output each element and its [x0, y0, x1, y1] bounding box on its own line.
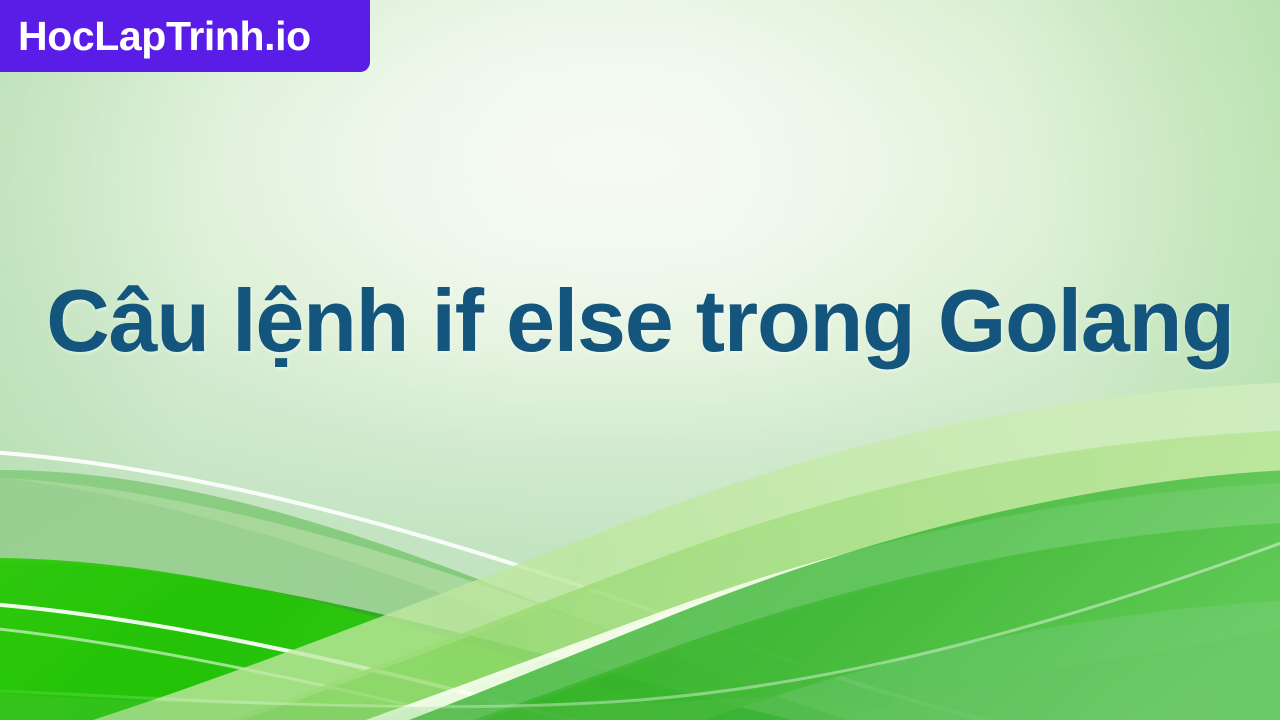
slide-canvas: HocLapTrinh.io Câu lệnh if else trong Go… — [0, 0, 1280, 720]
brand-badge[interactable]: HocLapTrinh.io — [0, 0, 370, 72]
wave-decoration — [0, 0, 1280, 720]
brand-badge-label: HocLapTrinh.io — [0, 16, 311, 57]
